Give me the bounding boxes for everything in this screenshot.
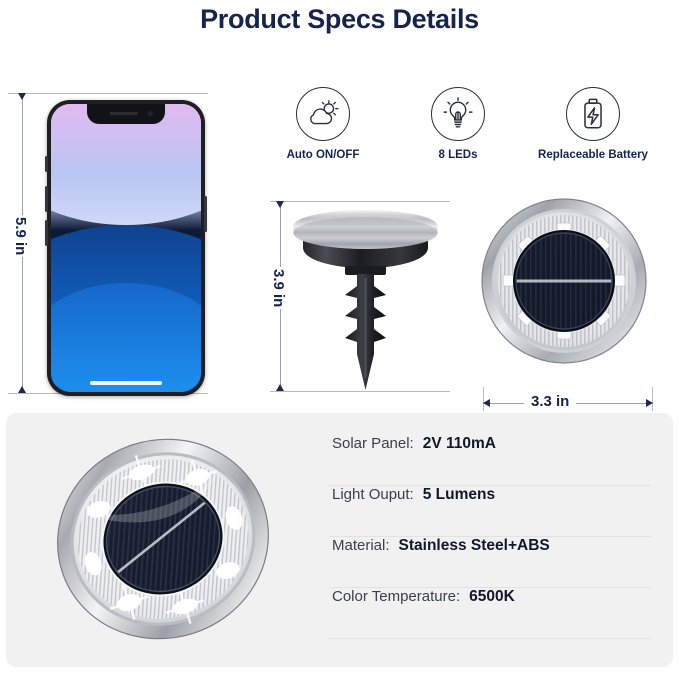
feature-label: Replaceable Battery <box>528 149 658 161</box>
spec-row-light-output: Light Ouput: 5 Lumens <box>329 486 651 537</box>
page-title: Product Specs Details <box>0 4 679 35</box>
feature-label: 8 LEDs <box>393 149 523 161</box>
phone-volume-up-button <box>45 186 48 212</box>
spec-label: Solar Panel: <box>332 435 414 452</box>
product-hero-photo <box>30 435 295 650</box>
phone-home-indicator <box>90 381 162 385</box>
feature-label: Auto ON/OFF <box>258 149 388 161</box>
phone-power-button <box>204 196 207 232</box>
top-illustration-section: 5.9 in <box>0 35 679 408</box>
phone-dim-tick-top <box>8 93 208 94</box>
phone-front-camera-icon <box>148 111 153 116</box>
feature-icons-row: Auto ON/OFF 8 LEDs Replac <box>258 87 658 161</box>
solar-light-side-view <box>283 200 448 390</box>
spec-panel: Solar Panel: 2V 110mA Light Ouput: 5 Lum… <box>6 413 673 667</box>
phone-dim-arrow-top <box>18 93 26 100</box>
spec-label: Material: <box>332 537 390 554</box>
phone-height-label: 5.9 in <box>9 215 32 257</box>
phone-notch <box>87 104 165 124</box>
lamp-dim-arrow-left <box>483 399 490 407</box>
battery-icon <box>566 87 620 141</box>
phone-dimension-group: 5.9 in <box>0 45 230 395</box>
spec-label: Light Ouput: <box>332 486 414 503</box>
stake-dimension-group: 3.9 in <box>258 185 458 400</box>
spec-row-solar-panel: Solar Panel: 2V 110mA <box>329 435 651 486</box>
spec-label: Color Temperature: <box>332 588 460 605</box>
spec-value: 2V 110mA <box>423 435 496 453</box>
phone-dim-arrow-bottom <box>18 386 26 393</box>
lamp-diameter-label: 3.3 in <box>524 393 576 410</box>
spec-value: 6500K <box>469 588 515 606</box>
title-bar: Product Specs Details <box>0 0 679 35</box>
phone-mockup <box>47 100 205 396</box>
feature-replaceable-battery: Replaceable Battery <box>528 87 658 161</box>
lamp-topview-group <box>470 185 670 405</box>
spec-value: 5 Lumens <box>423 486 495 504</box>
wallpaper-arc-bottom <box>51 283 201 392</box>
spec-row-material: Material: Stainless Steel+ABS <box>329 537 651 588</box>
spec-table: Solar Panel: 2V 110mA Light Ouput: 5 Lum… <box>329 435 651 639</box>
feature-auto-on-off: Auto ON/OFF <box>258 87 388 161</box>
spec-value: Stainless Steel+ABS <box>399 537 550 555</box>
spec-row-color-temperature: Color Temperature: 6500K <box>329 588 651 639</box>
phone-volume-down-button <box>45 220 48 246</box>
phone-mute-switch <box>45 156 48 172</box>
phone-earpiece <box>110 112 138 115</box>
feature-8-leds: 8 LEDs <box>393 87 523 161</box>
sun-cloud-icon <box>296 87 350 141</box>
solar-light-top-view <box>480 197 648 365</box>
lamp-dim-arrow-right <box>646 399 653 407</box>
phone-screen <box>51 104 201 392</box>
stake-dim-tick-bottom <box>270 391 450 392</box>
light-bulb-icon <box>431 87 485 141</box>
